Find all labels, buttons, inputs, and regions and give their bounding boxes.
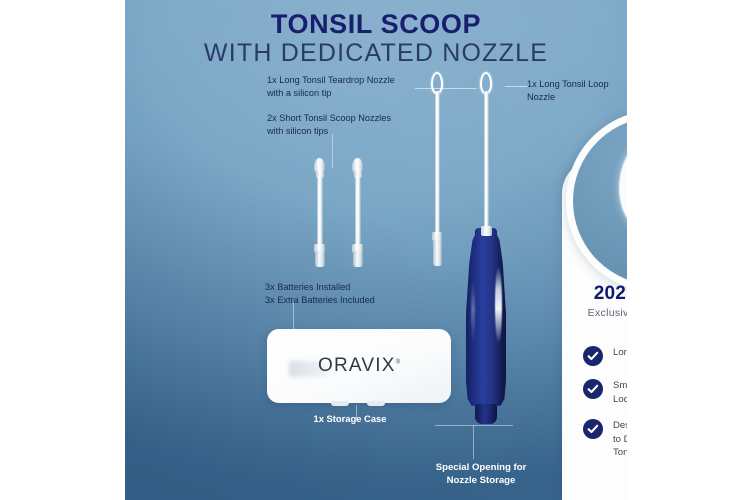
leader-line-batteries bbox=[293, 303, 294, 335]
check-icon bbox=[583, 419, 603, 439]
benefits-list: Longer Reach Smooth Loop Design Designed… bbox=[583, 345, 627, 472]
long-loop-nozzle bbox=[477, 72, 495, 252]
short-scoop-nozzle-1 bbox=[311, 158, 328, 268]
brand-name: ORAVIX bbox=[318, 355, 396, 376]
check-icon bbox=[583, 346, 603, 366]
update-subtitle: Exclusive Tonsil Stone Loop bbox=[562, 307, 627, 319]
nozzle-shaft bbox=[317, 176, 323, 248]
nozzle-collar bbox=[481, 226, 492, 236]
nozzle-base bbox=[353, 251, 363, 267]
update-title: 2025 UPDATE bbox=[562, 283, 627, 305]
benefit-item: Smooth Loop Design bbox=[583, 378, 627, 406]
case-latch-left bbox=[331, 401, 349, 406]
callout-loop-nozzle: 1x Long Tonsil Loop Nozzle bbox=[527, 78, 627, 105]
nozzle-shaft bbox=[355, 176, 361, 248]
image-canvas: TONSIL SCOOP WITH DEDICATED NOZZLE bbox=[0, 0, 750, 500]
benefit-label: Designed to Dislodge Tonsil Stones bbox=[613, 418, 627, 460]
benefit-label: Smooth Loop Design bbox=[613, 378, 627, 406]
headline-primary: TONSIL SCOOP bbox=[125, 10, 627, 38]
update-block: 2025 UPDATE Exclusive Tonsil Stone Loop bbox=[562, 283, 627, 319]
benefit-label: Longer Reach bbox=[613, 345, 627, 360]
case-brand-logo: ORAVIX® bbox=[267, 355, 451, 377]
headline-secondary: WITH DEDICATED NOZZLE bbox=[125, 38, 627, 69]
nozzle-base bbox=[315, 251, 325, 267]
callout-special-opening: Special Opening for Nozzle Storage bbox=[393, 462, 569, 488]
device-handle bbox=[466, 228, 506, 418]
benefit-item: Designed to Dislodge Tonsil Stones bbox=[583, 418, 627, 460]
leader-line-short-nozzles bbox=[332, 134, 333, 168]
callout-storage-case: 1x Storage Case bbox=[275, 412, 425, 426]
handle-highlight bbox=[495, 266, 502, 344]
callout-teardrop-nozzle: 1x Long Tonsil Teardrop Nozzle with a si… bbox=[267, 74, 395, 101]
nozzle-shaft bbox=[435, 91, 440, 239]
callout-short-nozzles: 2x Short Tonsil Scoop Nozzles with silic… bbox=[267, 112, 391, 139]
storage-case: ORAVIX® bbox=[267, 329, 451, 403]
benefit-item: Longer Reach bbox=[583, 345, 627, 366]
leader-line-opening-horizontal bbox=[435, 425, 513, 426]
headline-block: TONSIL SCOOP WITH DEDICATED NOZZLE bbox=[125, 10, 627, 70]
callout-batteries: 3x Batteries Installed 3x Extra Batterie… bbox=[265, 281, 375, 308]
magnified-loop-ring-icon bbox=[619, 137, 627, 235]
handle-bottom-cap bbox=[475, 404, 497, 424]
leader-line-teardrop bbox=[415, 88, 477, 89]
check-icon bbox=[583, 379, 603, 399]
leader-line-opening-vertical bbox=[473, 425, 474, 459]
short-scoop-nozzle-2 bbox=[349, 158, 366, 268]
nozzle-shaft bbox=[484, 91, 489, 233]
handle-highlight-secondary bbox=[471, 280, 475, 344]
registered-trademark-icon: ® bbox=[396, 360, 400, 366]
long-teardrop-nozzle bbox=[428, 72, 446, 262]
case-latch-right bbox=[367, 401, 385, 406]
product-photo-background: TONSIL SCOOP WITH DEDICATED NOZZLE bbox=[125, 0, 627, 500]
nozzle-base bbox=[433, 240, 442, 266]
